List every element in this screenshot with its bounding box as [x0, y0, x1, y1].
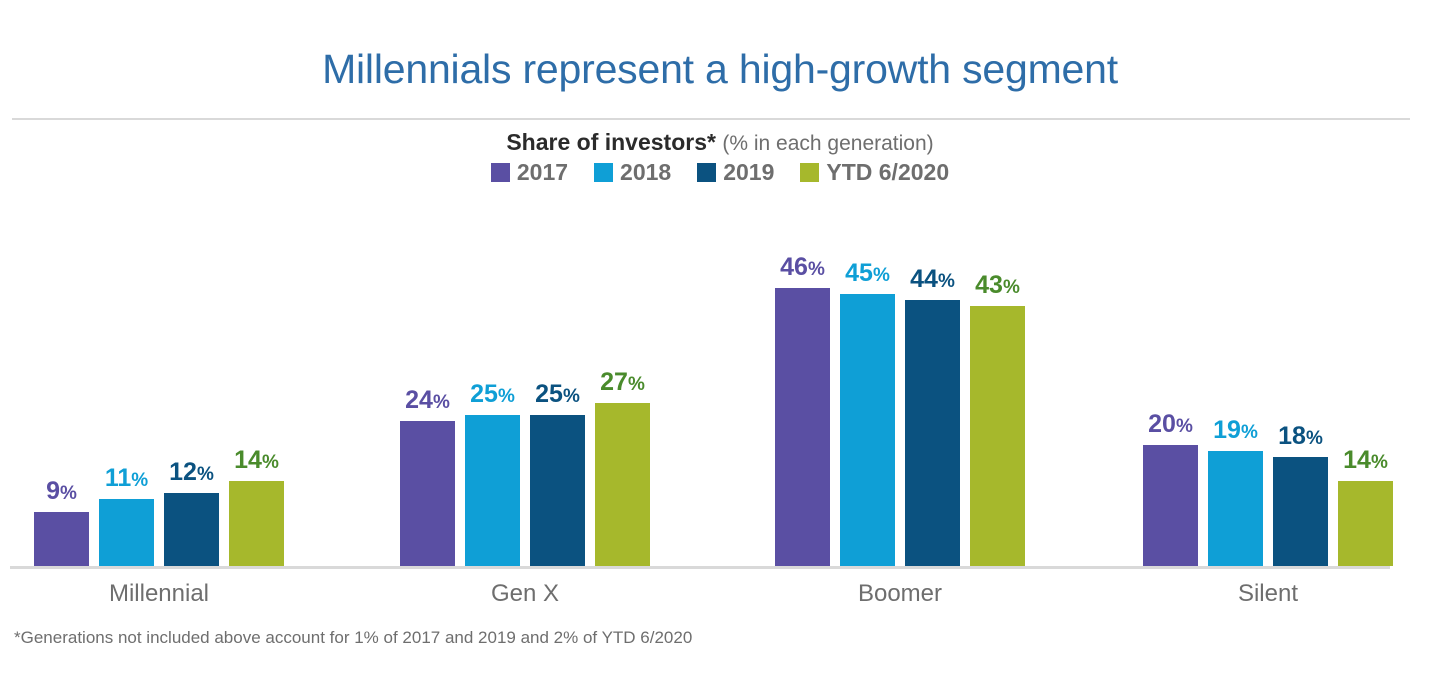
bar-value-label: 18%	[1278, 424, 1323, 451]
plot-area: 9%11%12%14%24%25%25%27%46%45%44%43%20%19…	[0, 0, 1440, 689]
bar-rect	[1143, 445, 1198, 566]
bar-rect	[840, 294, 895, 566]
bar-rect	[1208, 451, 1263, 566]
bar-value-label: 25%	[470, 382, 515, 409]
bar-rect	[1273, 457, 1328, 566]
axis-baseline	[10, 566, 1390, 569]
bar-value-label: 24%	[405, 388, 450, 415]
bar-boomer-ytd-6-2020[interactable]: 43%	[970, 306, 1025, 566]
category-label-gen-x: Gen X	[400, 580, 650, 608]
bar-gen-x-2017[interactable]: 24%	[400, 421, 455, 566]
bar-rect	[530, 415, 585, 566]
bar-value-label: 46%	[780, 255, 825, 282]
bar-rect	[465, 415, 520, 566]
category-label-silent: Silent	[1143, 580, 1393, 608]
bar-millennial-2017[interactable]: 9%	[34, 512, 89, 566]
bar-value-label: 45%	[845, 261, 890, 288]
bar-value-label: 25%	[535, 382, 580, 409]
bar-silent-2017[interactable]: 20%	[1143, 445, 1198, 566]
bar-rect	[775, 288, 830, 566]
bar-gen-x-ytd-6-2020[interactable]: 27%	[595, 403, 650, 566]
bar-rect	[1338, 481, 1393, 566]
bar-rect	[905, 300, 960, 566]
bar-value-label: 14%	[1343, 448, 1388, 475]
bar-boomer-2018[interactable]: 45%	[840, 294, 895, 566]
category-label-millennial: Millennial	[34, 580, 284, 608]
bar-boomer-2017[interactable]: 46%	[775, 288, 830, 566]
bar-value-label: 27%	[600, 370, 645, 397]
bar-value-label: 20%	[1148, 412, 1193, 439]
bar-silent-2019[interactable]: 18%	[1273, 457, 1328, 566]
bar-value-label: 44%	[910, 267, 955, 294]
bar-rect	[400, 421, 455, 566]
bar-value-label: 9%	[46, 479, 77, 506]
bar-value-label: 12%	[169, 460, 214, 487]
bar-value-label: 43%	[975, 273, 1020, 300]
bar-silent-2018[interactable]: 19%	[1208, 451, 1263, 566]
bar-silent-ytd-6-2020[interactable]: 14%	[1338, 481, 1393, 566]
bar-rect	[595, 403, 650, 566]
bar-gen-x-2018[interactable]: 25%	[465, 415, 520, 566]
bar-value-label: 14%	[234, 448, 279, 475]
bar-rect	[34, 512, 89, 566]
bar-rect	[99, 499, 154, 566]
bar-rect	[970, 306, 1025, 566]
bar-rect	[229, 481, 284, 566]
bar-value-label: 19%	[1213, 418, 1258, 445]
bar-gen-x-2019[interactable]: 25%	[530, 415, 585, 566]
bar-millennial-ytd-6-2020[interactable]: 14%	[229, 481, 284, 566]
category-label-boomer: Boomer	[775, 580, 1025, 608]
footnote: *Generations not included above account …	[14, 628, 692, 648]
bar-value-label: 11%	[105, 466, 148, 493]
bar-boomer-2019[interactable]: 44%	[905, 300, 960, 566]
chart-slide: Millennials represent a high-growth segm…	[0, 0, 1440, 689]
bar-millennial-2019[interactable]: 12%	[164, 493, 219, 566]
bar-rect	[164, 493, 219, 566]
bar-millennial-2018[interactable]: 11%	[99, 499, 154, 566]
